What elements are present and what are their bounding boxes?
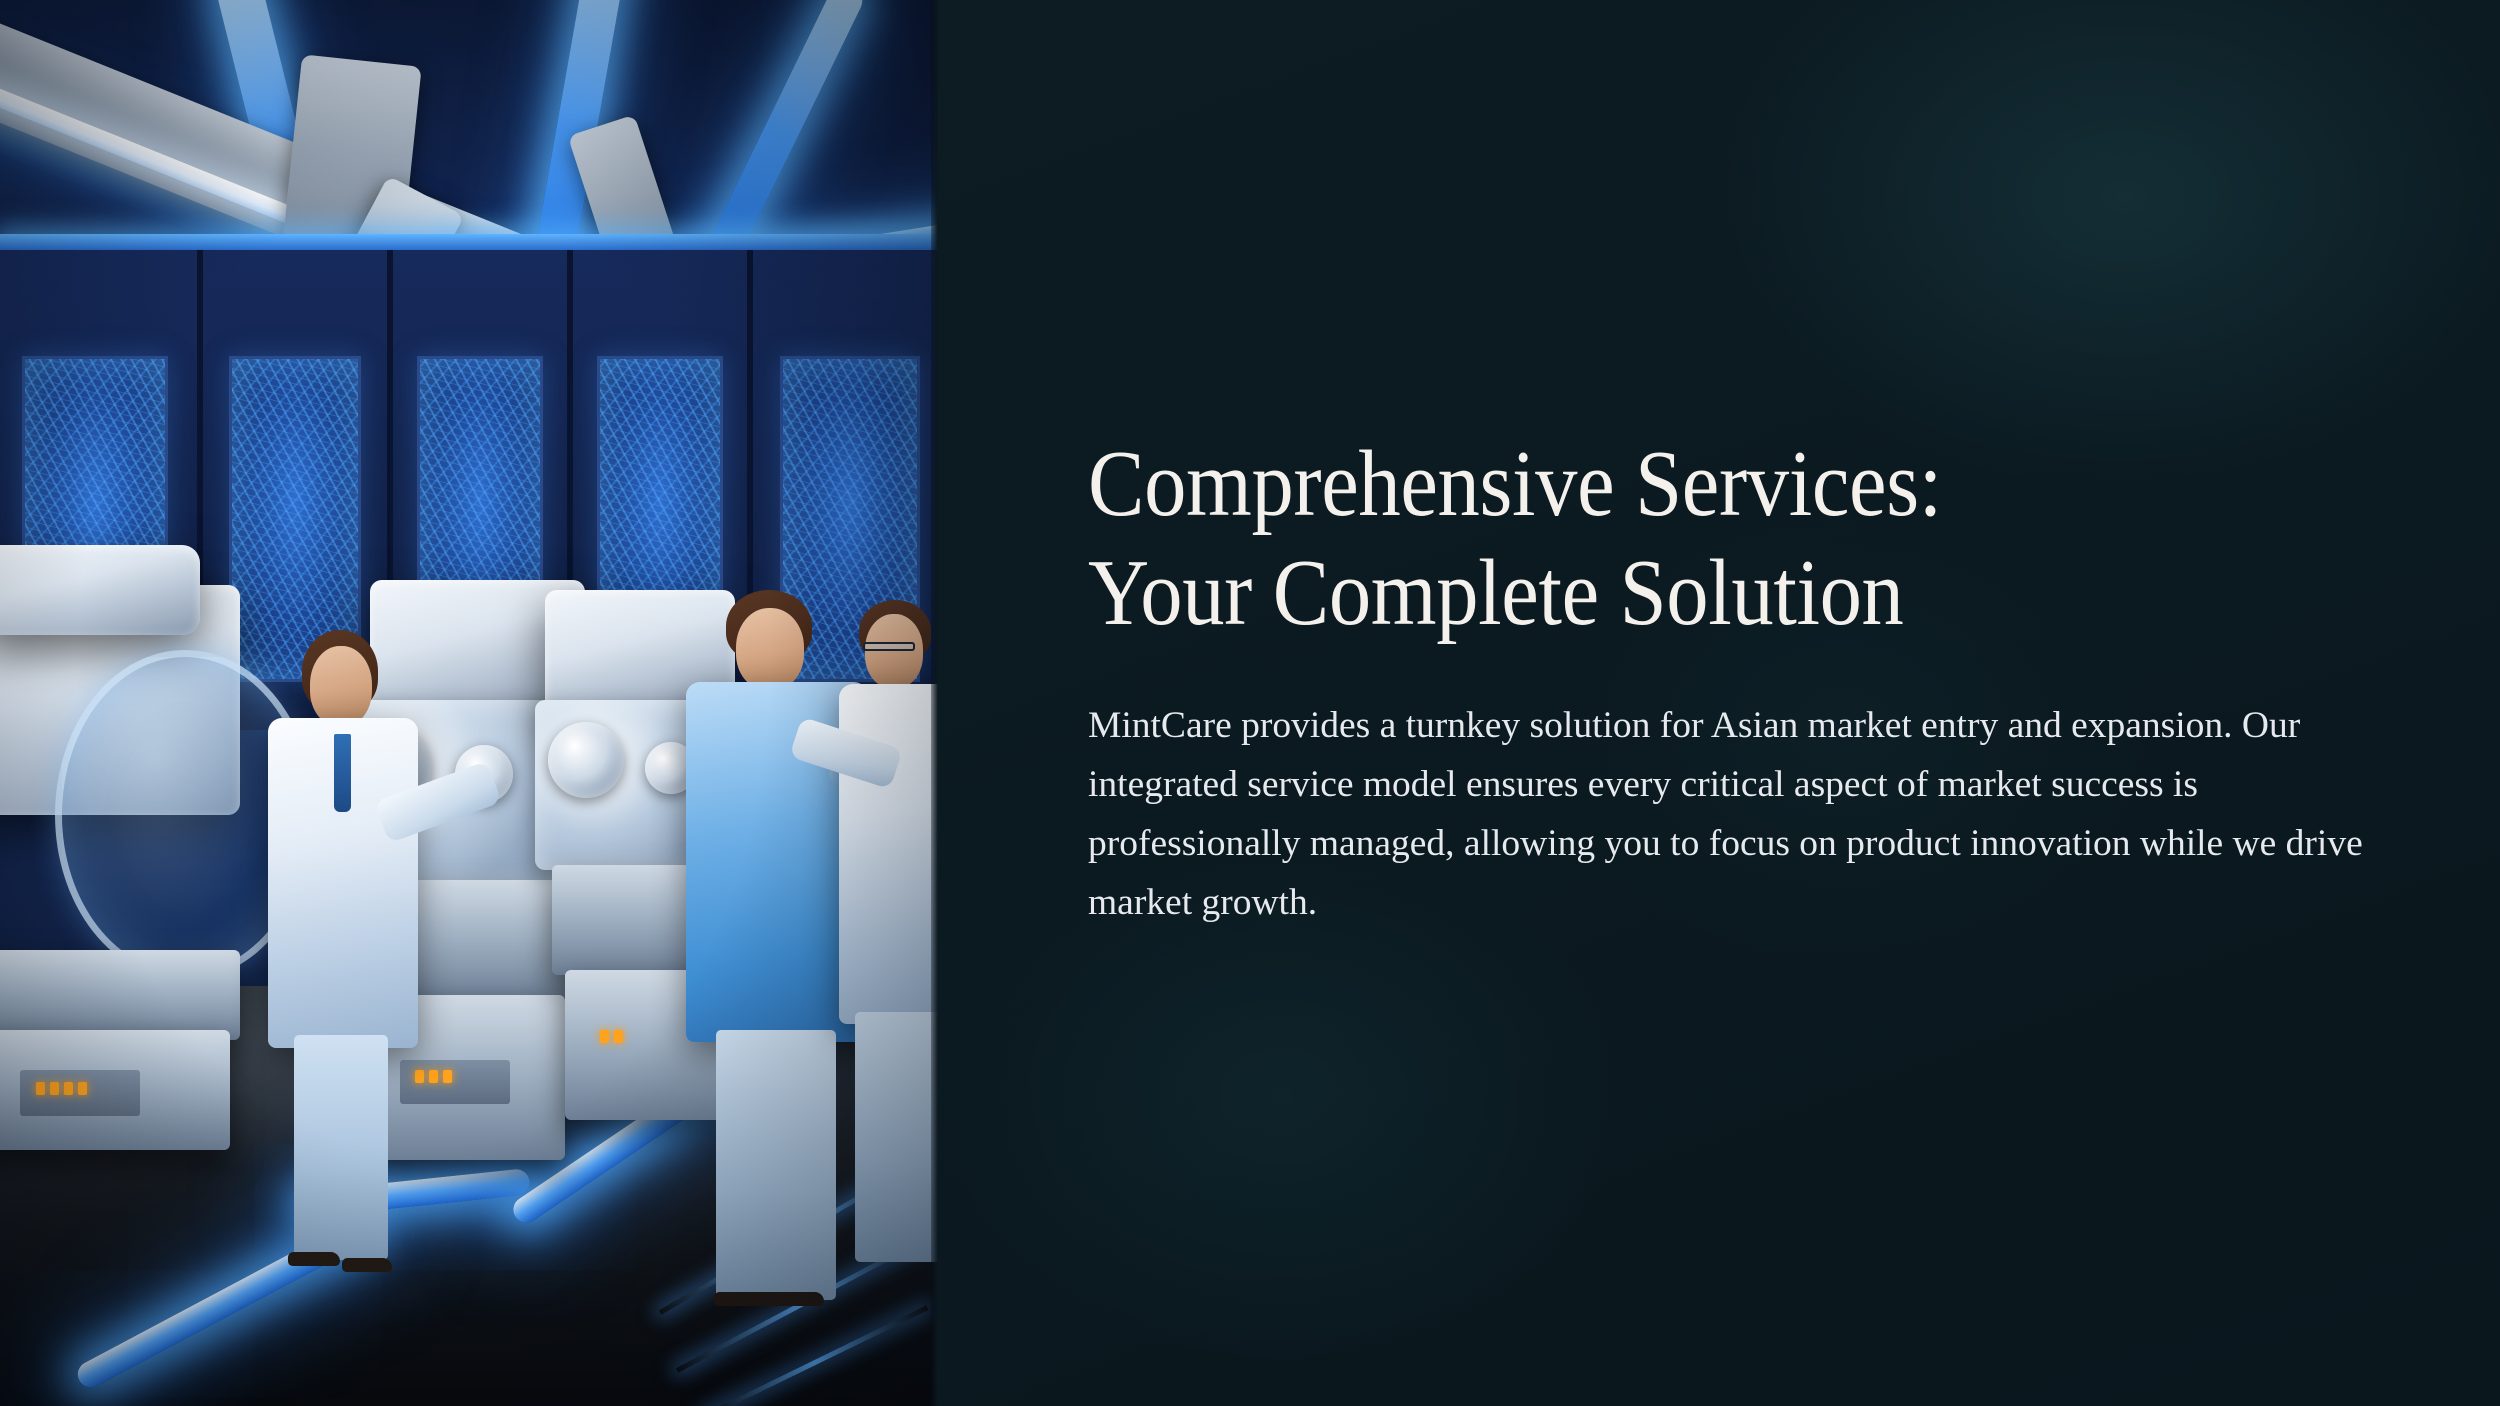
male-scientist-center-shoe xyxy=(714,1292,824,1306)
female-scientist-head xyxy=(310,646,372,726)
wall-cornice-neon xyxy=(0,234,938,250)
female-scientist-legs xyxy=(294,1035,388,1260)
female-scientist-shoe-left xyxy=(288,1252,340,1266)
content-pane: Comprehensive Services: Your Complete So… xyxy=(938,0,2500,1406)
status-led xyxy=(50,1082,59,1095)
male-scientist-center-legs xyxy=(716,1030,836,1300)
text-block: Comprehensive Services: Your Complete So… xyxy=(1088,430,2428,932)
status-led xyxy=(36,1082,45,1095)
slide-root: Comprehensive Services: Your Complete So… xyxy=(0,0,2500,1406)
male-scientist-center-head xyxy=(736,608,804,690)
photo-stage xyxy=(0,0,938,1406)
status-led xyxy=(600,1030,609,1043)
female-scientist xyxy=(250,630,450,1330)
body-paragraph: MintCare provides a turnkey solution for… xyxy=(1088,696,2388,932)
photo-right-edge xyxy=(931,0,938,1406)
isolator-2-wheel xyxy=(548,722,624,798)
male-scientist-right-legs xyxy=(855,1012,938,1262)
isolator-2-led-row xyxy=(600,1030,623,1043)
male-scientist-right-glasses xyxy=(863,642,915,651)
analyzer-base xyxy=(0,950,240,1040)
female-scientist-shoe-right xyxy=(342,1258,392,1272)
page-title: Comprehensive Services: Your Complete So… xyxy=(1088,430,2294,648)
status-led xyxy=(614,1030,623,1043)
analyzer-led-row xyxy=(36,1082,87,1095)
male-scientist-right xyxy=(845,600,938,1300)
status-led xyxy=(78,1082,87,1095)
male-scientist-right-head xyxy=(865,614,923,688)
female-scientist-tie xyxy=(334,734,351,812)
lab-photo xyxy=(0,0,938,1406)
analyzer-head xyxy=(0,545,200,635)
ceiling-neon-curve-3 xyxy=(706,0,868,262)
status-led xyxy=(64,1082,73,1095)
